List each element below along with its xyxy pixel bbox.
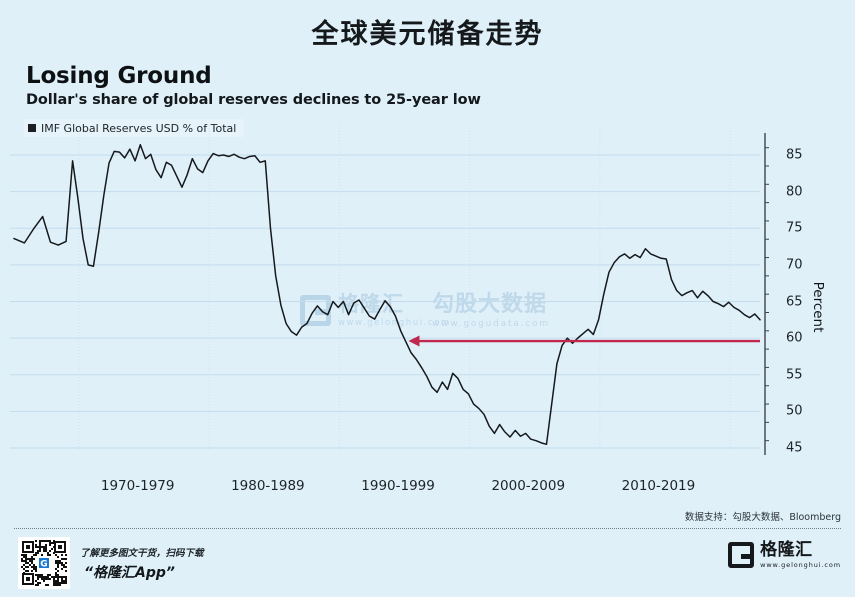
y-axis-tick: 55 bbox=[786, 367, 803, 382]
page-title: 全球美元储备走势 bbox=[0, 12, 855, 51]
y-axis-tick: 80 bbox=[786, 184, 803, 199]
x-axis-tick: 1980-1989 bbox=[231, 478, 305, 494]
y-axis-tick: 75 bbox=[786, 221, 803, 236]
y-axis-tick: 45 bbox=[786, 441, 803, 456]
y-axis-tick: 70 bbox=[786, 257, 803, 272]
qr-code[interactable]: G bbox=[18, 537, 70, 589]
right-axis bbox=[765, 133, 769, 455]
x-axis-tick: 2010-2019 bbox=[622, 478, 696, 494]
y-axis-tick: 50 bbox=[786, 404, 803, 419]
line-chart-svg bbox=[0, 125, 855, 455]
series-line-imf-usd-share bbox=[14, 145, 760, 445]
y-axis-tick: 60 bbox=[786, 331, 803, 346]
x-axis-tick: 1990-1999 bbox=[361, 478, 435, 494]
chart-headline: Losing Ground bbox=[26, 63, 212, 89]
x-axis-tick: 2000-2009 bbox=[491, 478, 565, 494]
svg-text:G: G bbox=[40, 560, 47, 570]
brand-name: 格隆汇 bbox=[760, 542, 841, 559]
promo-line-1: 了解更多图文干货，扫码下载 bbox=[80, 545, 204, 559]
brand-logo-block: 格隆汇 www.gelonghui.com bbox=[728, 542, 841, 569]
promo-line-2: “格隆汇App” bbox=[84, 562, 175, 582]
qr-code-icon: G bbox=[20, 539, 68, 587]
annotation-arrow bbox=[408, 336, 760, 347]
chart-page: 全球美元储备走势 Losing Ground Dollar's share of… bbox=[0, 0, 855, 597]
brand-logo-icon bbox=[728, 542, 754, 568]
data-source-note: 数据支持：勾股大数据、Bloomberg bbox=[685, 509, 841, 523]
brand-url: www.gelonghui.com bbox=[760, 562, 841, 569]
y-axis-tick: 65 bbox=[786, 294, 803, 309]
vertical-gridlines bbox=[79, 125, 730, 451]
footer-divider bbox=[14, 528, 841, 529]
chart-subheadline: Dollar's share of global reserves declin… bbox=[26, 92, 481, 108]
y-axis-tick: 85 bbox=[786, 148, 803, 163]
y-axis-title: Percent bbox=[810, 282, 826, 333]
chart-plot-area bbox=[0, 125, 855, 455]
x-axis-tick: 1970-1979 bbox=[101, 478, 175, 494]
